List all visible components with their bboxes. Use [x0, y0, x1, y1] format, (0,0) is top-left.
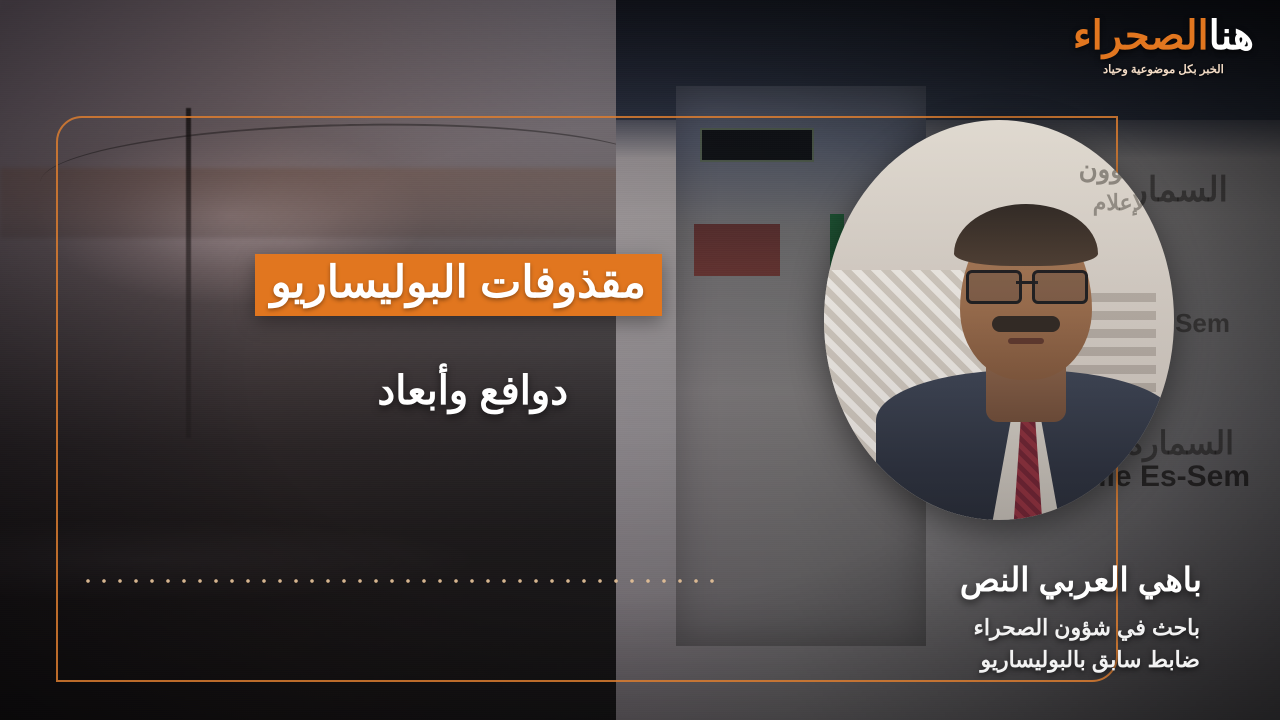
headline-block: مقذوفات البوليساريو [255, 254, 662, 316]
guest-name: باهي العربي النص [960, 560, 1202, 599]
guest-role-line-2: ضابط سابق بالبوليساريو [974, 644, 1201, 676]
guest-role: باحث في شؤون الصحراء ضابط سابق بالبوليسا… [974, 612, 1201, 676]
channel-tagline: الخبر بكل موضوعية وحياد [1073, 62, 1254, 76]
headline-subtitle: دوافع وأبعاد [377, 368, 568, 414]
dotted-divider [80, 578, 720, 584]
channel-wordmark-right: الصحراء [1073, 14, 1209, 58]
guest-role-line-1: باحث في شؤون الصحراء [974, 612, 1201, 644]
video-frame: السمارة ون لكبرى و الإعلام Es-Sem السمار… [0, 0, 1280, 720]
channel-wordmark: هناالصحراء [1073, 16, 1254, 56]
channel-logo: هناالصحراء الخبر بكل موضوعية وحياد [1073, 16, 1254, 76]
portrait-tint-overlay [824, 120, 1174, 520]
guest-portrait: الشؤون و الإعلام [824, 120, 1174, 520]
channel-wordmark-left: هنا [1209, 14, 1254, 58]
headline-main: مقذوفات البوليساريو [255, 254, 662, 316]
